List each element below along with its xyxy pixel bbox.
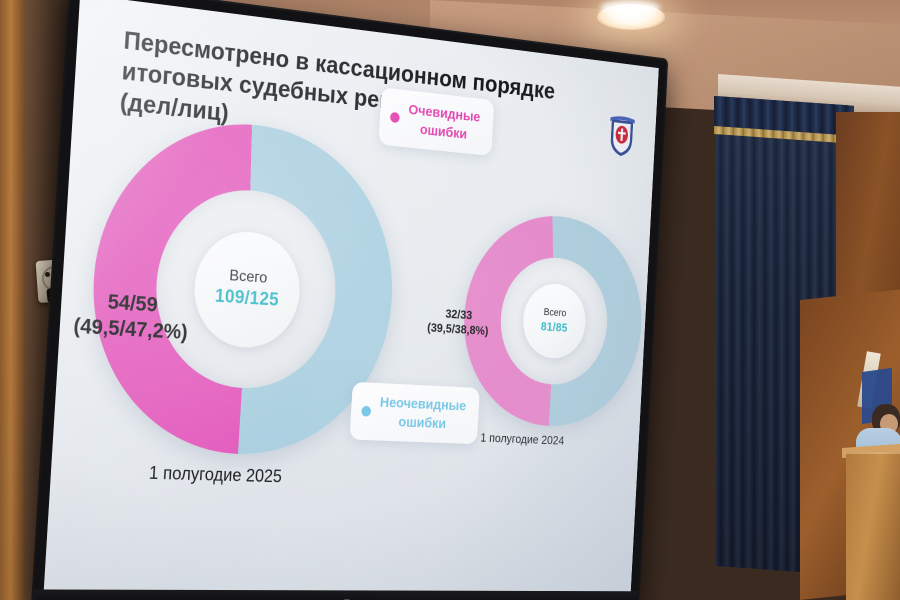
legend-dot-icon xyxy=(361,406,371,417)
tv-screen: Пересмотрено в кассационном порядке итог… xyxy=(44,0,659,591)
slice-data-label: 54/59 (49,5/47,2%) xyxy=(73,287,190,345)
screenshot-stage: Пересмотрено в кассационном порядке итог… xyxy=(0,0,900,600)
legend-non-obvious-errors: Неочевидные ошибки xyxy=(350,382,481,444)
tv-wrapper: Пересмотрено в кассационном порядке итог… xyxy=(0,0,900,600)
slice-label-line2: (49,5/47,2%) xyxy=(73,313,189,345)
wall-mounted-tv: Пересмотрено в кассационном порядке итог… xyxy=(33,0,667,600)
legend-label-line1: Неочевидные xyxy=(379,394,466,414)
donut-center-value: 81/85 xyxy=(540,320,567,335)
slice-label-line2: (39,5/38,8%) xyxy=(427,320,489,338)
legend-dot-icon xyxy=(390,112,400,123)
legend-obvious-errors: Очевидные ошибки xyxy=(378,87,494,156)
presentation-slide: Пересмотрено в кассационном порядке итог… xyxy=(44,0,659,591)
chart-caption: 1 полугодие 2025 xyxy=(148,463,282,487)
legend-label: Очевидные ошибки xyxy=(407,101,481,145)
donut-center-label: Всего xyxy=(229,268,268,288)
slice-label-line1: 32/33 xyxy=(445,306,472,322)
donut-center-value: 109/125 xyxy=(214,286,279,312)
chart-caption: 1 полугодие 2024 xyxy=(480,430,564,447)
court-emblem-icon xyxy=(605,112,638,160)
tv-lower-bezel xyxy=(33,589,639,600)
donut-chart-2024: Всего 81/85 32/33 (39,5/38,8%) 1 полугод… xyxy=(458,208,646,429)
legend-label-line2: ошибки xyxy=(378,412,465,434)
slice-data-label: 32/33 (39,5/38,8%) xyxy=(427,305,490,338)
donut-center-label: Всего xyxy=(543,307,566,319)
legend-label: Неочевидные ошибки xyxy=(378,393,466,433)
slice-label-line1: 54/59 xyxy=(107,291,158,317)
